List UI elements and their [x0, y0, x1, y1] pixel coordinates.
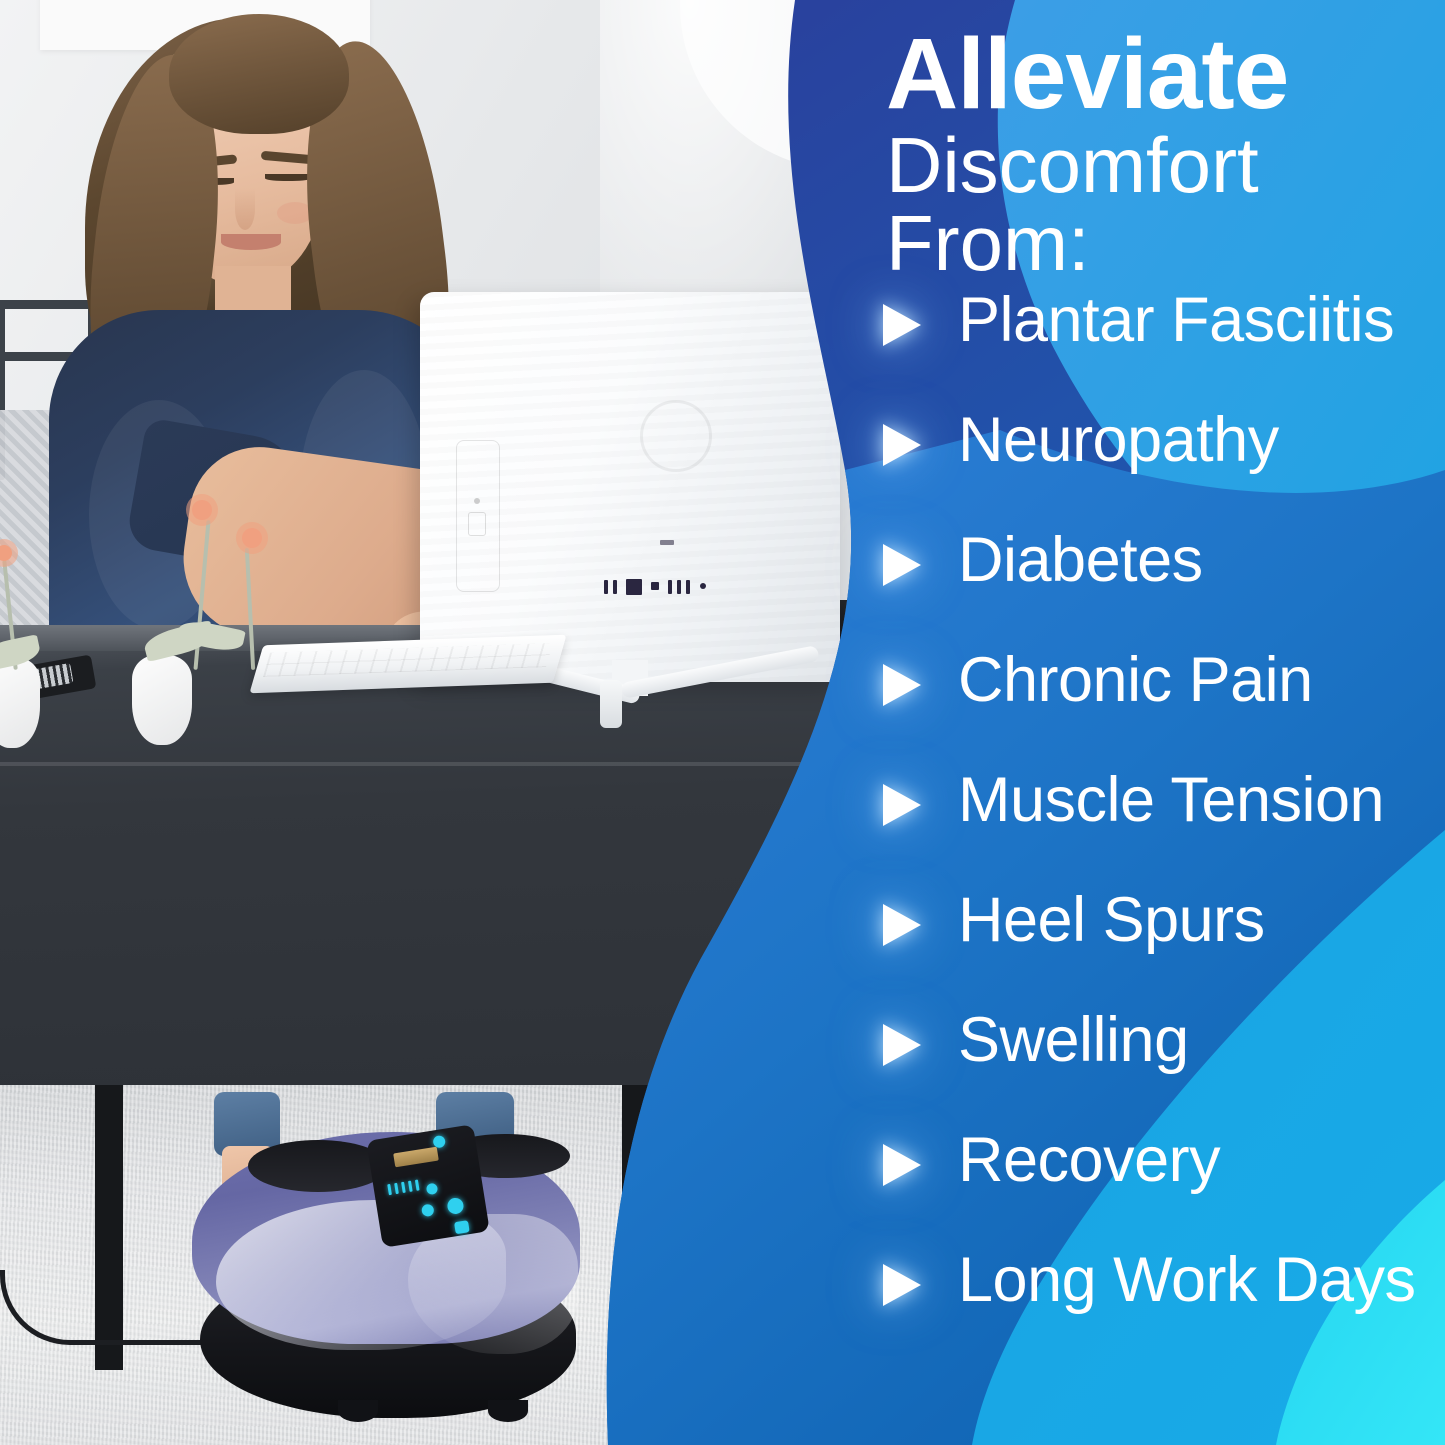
- list-item-label: Neuropathy: [958, 402, 1279, 478]
- headline-secondary: Discomfort From:: [886, 126, 1445, 282]
- triangle-right-icon: [883, 1264, 921, 1306]
- list-item-label: Muscle Tension: [958, 762, 1384, 838]
- headline-primary: Alleviate: [886, 24, 1288, 124]
- list-item-label: Heel Spurs: [958, 882, 1265, 958]
- list-item-label: Swelling: [958, 1002, 1189, 1078]
- triangle-right-icon: [883, 904, 921, 946]
- list-item-label: Plantar Fasciitis: [958, 282, 1394, 358]
- benefits-list: Plantar Fasciitis Neuropathy Diabetes Ch…: [880, 286, 1440, 1366]
- list-item: Muscle Tension: [880, 766, 1440, 886]
- list-item: Heel Spurs: [880, 886, 1440, 1006]
- list-item-label: Long Work Days: [958, 1242, 1416, 1318]
- triangle-right-icon: [883, 304, 921, 346]
- list-item: Recovery: [880, 1126, 1440, 1246]
- panel-content: Alleviate Discomfort From: Plantar Fasci…: [0, 0, 1445, 1445]
- list-item: Neuropathy: [880, 406, 1440, 526]
- triangle-right-icon: [883, 784, 921, 826]
- list-item: Long Work Days: [880, 1246, 1440, 1366]
- list-item: Diabetes: [880, 526, 1440, 646]
- list-item-label: Diabetes: [958, 522, 1203, 598]
- list-item-label: Recovery: [958, 1122, 1220, 1198]
- triangle-right-icon: [883, 1024, 921, 1066]
- list-item-label: Chronic Pain: [958, 642, 1313, 718]
- triangle-right-icon: [883, 424, 921, 466]
- list-item: Plantar Fasciitis: [880, 286, 1440, 406]
- list-item: Chronic Pain: [880, 646, 1440, 766]
- list-item: Swelling: [880, 1006, 1440, 1126]
- triangle-right-icon: [883, 544, 921, 586]
- triangle-right-icon: [883, 664, 921, 706]
- product-feature-banner: Alleviate Discomfort From: Plantar Fasci…: [0, 0, 1445, 1445]
- triangle-right-icon: [883, 1144, 921, 1186]
